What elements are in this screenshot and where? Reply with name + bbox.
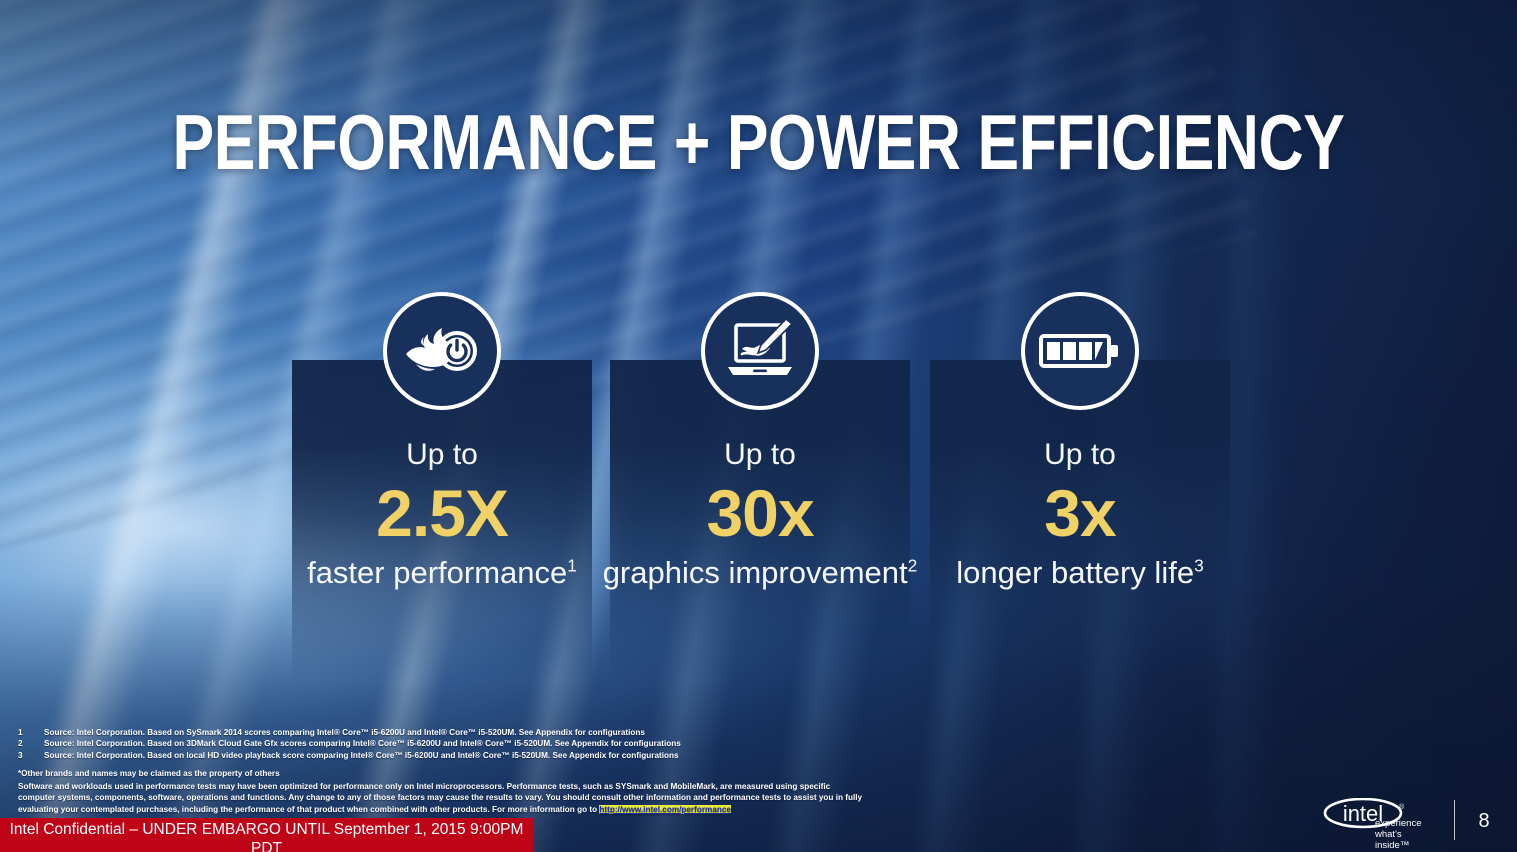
tagline-line-1: experience xyxy=(1375,818,1433,829)
embargo-banner: Intel Confidential – UNDER EMBARGO UNTIL… xyxy=(0,818,533,852)
stat-prefix: Up to xyxy=(902,438,1258,472)
stat-caption: graphics improvement2 xyxy=(582,554,938,592)
stat-caption-text: graphics improvement xyxy=(603,555,908,590)
stat-card-graphics: Up to 30x graphics improvement2 xyxy=(610,360,910,680)
intel-logo-tagline: experience what's inside™ xyxy=(1375,818,1433,851)
performance-disclaimer: Software and workloads used in performan… xyxy=(18,781,868,816)
footnote-item: 1 Source: Intel Corporation. Based on Sy… xyxy=(18,727,898,738)
stat-card-text: Up to 30x graphics improvement2 xyxy=(582,438,938,592)
flame-power-icon xyxy=(383,292,501,410)
intel-logo: intel ® experience what's inside™ xyxy=(1323,798,1433,844)
page-number: 8 xyxy=(1469,808,1499,834)
footnote-number: 1 xyxy=(18,727,44,738)
page-title: PERFORMANCE + POWER EFFICIENCY xyxy=(152,103,1366,181)
legal-disclaimer: *Other brands and names may be claimed a… xyxy=(18,768,868,815)
stat-caption-text: faster performance xyxy=(307,555,567,590)
footnote-number: 2 xyxy=(18,738,44,749)
laptop-stylus-icon xyxy=(701,292,819,410)
stat-caption-text: longer battery life xyxy=(956,555,1194,590)
trademark-note: *Other brands and names may be claimed a… xyxy=(18,768,868,780)
stat-value: 2.5X xyxy=(264,472,620,554)
svg-text:®: ® xyxy=(1399,803,1405,811)
logo-divider xyxy=(1454,800,1455,840)
stat-card-performance: Up to 2.5X faster performance1 xyxy=(292,360,592,680)
footnote-text: Source: Intel Corporation. Based on loca… xyxy=(44,750,898,761)
footnote-text: Source: Intel Corporation. Based on 3DMa… xyxy=(44,738,898,749)
stat-footnote-marker: 1 xyxy=(567,556,577,576)
stat-card-text: Up to 3x longer battery life3 xyxy=(902,438,1258,592)
stat-card-text: Up to 2.5X faster performance1 xyxy=(264,438,620,592)
performance-disclaimer-text: Software and workloads used in performan… xyxy=(18,782,862,814)
stat-value: 30x xyxy=(582,472,938,554)
footnote-item: 2 Source: Intel Corporation. Based on 3D… xyxy=(18,738,898,749)
footnote-list: 1 Source: Intel Corporation. Based on Sy… xyxy=(18,727,898,761)
stat-card-battery: Up to 3x longer battery life3 xyxy=(930,360,1230,680)
stat-value: 3x xyxy=(902,472,1258,554)
footnote-item: 3 Source: Intel Corporation. Based on lo… xyxy=(18,750,898,761)
intel-performance-link[interactable]: http://www.intel.com/performance xyxy=(599,805,731,814)
stat-prefix: Up to xyxy=(582,438,938,472)
battery-icon xyxy=(1021,292,1139,410)
stat-prefix: Up to xyxy=(264,438,620,472)
footnote-number: 3 xyxy=(18,750,44,761)
footnote-text: Source: Intel Corporation. Based on SySm… xyxy=(44,727,898,738)
embargo-headline: Intel Confidential – UNDER EMBARGO UNTIL… xyxy=(0,820,533,852)
tagline-line-2: what's inside™ xyxy=(1375,829,1433,851)
stat-footnote-marker: 3 xyxy=(1194,556,1204,576)
stat-caption: longer battery life3 xyxy=(902,554,1258,592)
slide-canvas: PERFORMANCE + POWER EFFICIENCY xyxy=(0,0,1517,852)
stat-caption: faster performance1 xyxy=(264,554,620,592)
